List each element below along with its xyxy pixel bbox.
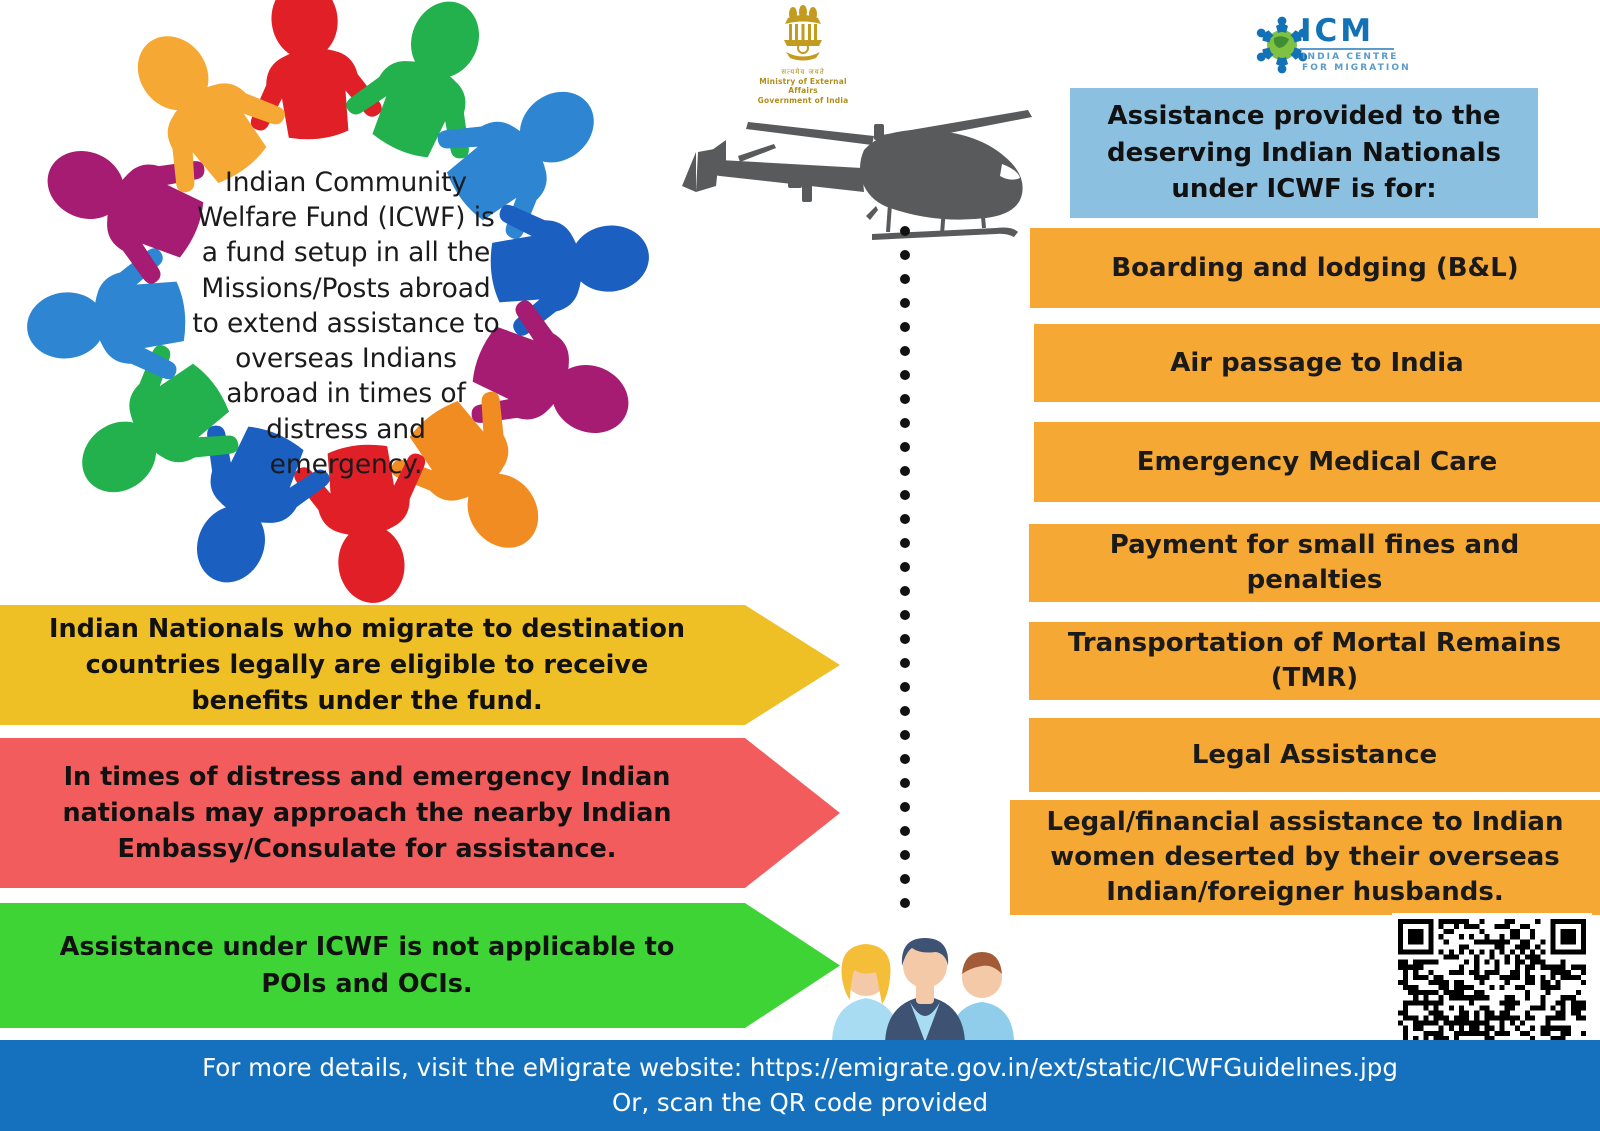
icm-subtitle-line2: FOR MIGRATION (1302, 63, 1411, 74)
assistance-header-text: Assistance provided to the deserving Ind… (1092, 98, 1516, 209)
icm-divider (1300, 48, 1394, 50)
rope-dot (900, 346, 910, 356)
rope-dot (900, 682, 910, 692)
rope-dot (900, 634, 910, 644)
rope-dot (900, 778, 910, 788)
banner-not-applicable: Assistance under ICWF is not applicable … (0, 903, 840, 1028)
assistance-header: Assistance provided to the deserving Ind… (1070, 88, 1538, 218)
banner-eligibility: Indian Nationals who migrate to destinat… (0, 605, 840, 725)
footer-line-1: For more details, visit the eMigrate web… (202, 1051, 1398, 1086)
rope-dot (900, 514, 910, 524)
rope-dot (900, 250, 910, 260)
footer-line-2: Or, scan the QR code provided (612, 1086, 988, 1121)
banner-approach-embassy: In times of distress and emergency India… (0, 738, 840, 888)
ministry-emblem-logo: सत्यमेव जयते Ministry of External Affair… (748, 2, 858, 94)
rope-dot (900, 298, 910, 308)
assistance-item-label: Payment for small fines and penalties (1043, 528, 1586, 598)
assistance-item-fines-penalties[interactable]: Payment for small fines and penalties (1029, 524, 1600, 602)
helicopter-icon (676, 88, 1046, 258)
rope-dot (900, 754, 910, 764)
rope-dot (900, 466, 910, 476)
icm-wordmark: ICM (1300, 16, 1374, 47)
rope-dot (900, 322, 910, 332)
assistance-item-deserted-women[interactable]: Legal/financial assistance to Indian wom… (1010, 800, 1600, 915)
community-figure (234, 0, 384, 147)
assistance-item-label: Emergency Medical Care (1137, 445, 1498, 480)
assistance-item-label: Air passage to India (1170, 346, 1463, 381)
rope-dot (900, 226, 910, 236)
rope-dot (900, 274, 910, 284)
rescue-rope-icon (900, 226, 910, 916)
people-trio-icon (830, 912, 1020, 1042)
assistance-item-label: Legal Assistance (1192, 738, 1437, 773)
rope-dot (900, 562, 910, 572)
rope-dot (900, 874, 910, 884)
icm-subtitle-line1: INDIA CENTRE (1302, 52, 1399, 63)
assistance-item-label: Legal/financial assistance to Indian wom… (1022, 805, 1588, 909)
rope-dot (900, 418, 910, 428)
rope-dot (900, 442, 910, 452)
community-figure (483, 188, 656, 338)
rope-dot (900, 394, 910, 404)
rope-dot (900, 610, 910, 620)
banner-approach-embassy-text: In times of distress and emergency India… (44, 759, 690, 868)
rope-dot (900, 490, 910, 500)
rope-dot (900, 538, 910, 548)
assistance-item-air-passage[interactable]: Air passage to India (1034, 324, 1600, 402)
circle-description-text: Indian Community Welfare Fund (ICWF) is … (188, 165, 504, 475)
assistance-item-label: Transportation of Mortal Remains (TMR) (1043, 626, 1586, 696)
rope-dot (900, 586, 910, 596)
rope-dot (900, 898, 910, 908)
assistance-item-medical-care[interactable]: Emergency Medical Care (1034, 422, 1600, 502)
rope-dot (900, 730, 910, 740)
infographic-canvas: Indian Community Welfare Fund (ICWF) is … (0, 0, 1600, 1131)
assistance-item-legal-assistance[interactable]: Legal Assistance (1029, 718, 1600, 792)
emblem-motto: सत्यमेव जयते (748, 68, 858, 77)
ashoka-lion-capital-icon (748, 2, 858, 64)
rope-dot (900, 850, 910, 860)
assistance-item-mortal-remains[interactable]: Transportation of Mortal Remains (TMR) (1029, 622, 1600, 700)
assistance-item-label: Boarding and lodging (B&L) (1111, 251, 1518, 286)
community-figure (19, 245, 192, 395)
rope-dot (900, 658, 910, 668)
banner-not-applicable-text: Assistance under ICWF is not applicable … (44, 929, 690, 1001)
rope-dot (900, 802, 910, 812)
banner-eligibility-text: Indian Nationals who migrate to destinat… (44, 611, 690, 720)
rope-dot (900, 826, 910, 836)
rope-dot (900, 370, 910, 380)
rope-dot (900, 706, 910, 716)
footer-bar: For more details, visit the eMigrate web… (0, 1040, 1600, 1131)
assistance-item-boarding-lodging[interactable]: Boarding and lodging (B&L) (1030, 228, 1600, 308)
